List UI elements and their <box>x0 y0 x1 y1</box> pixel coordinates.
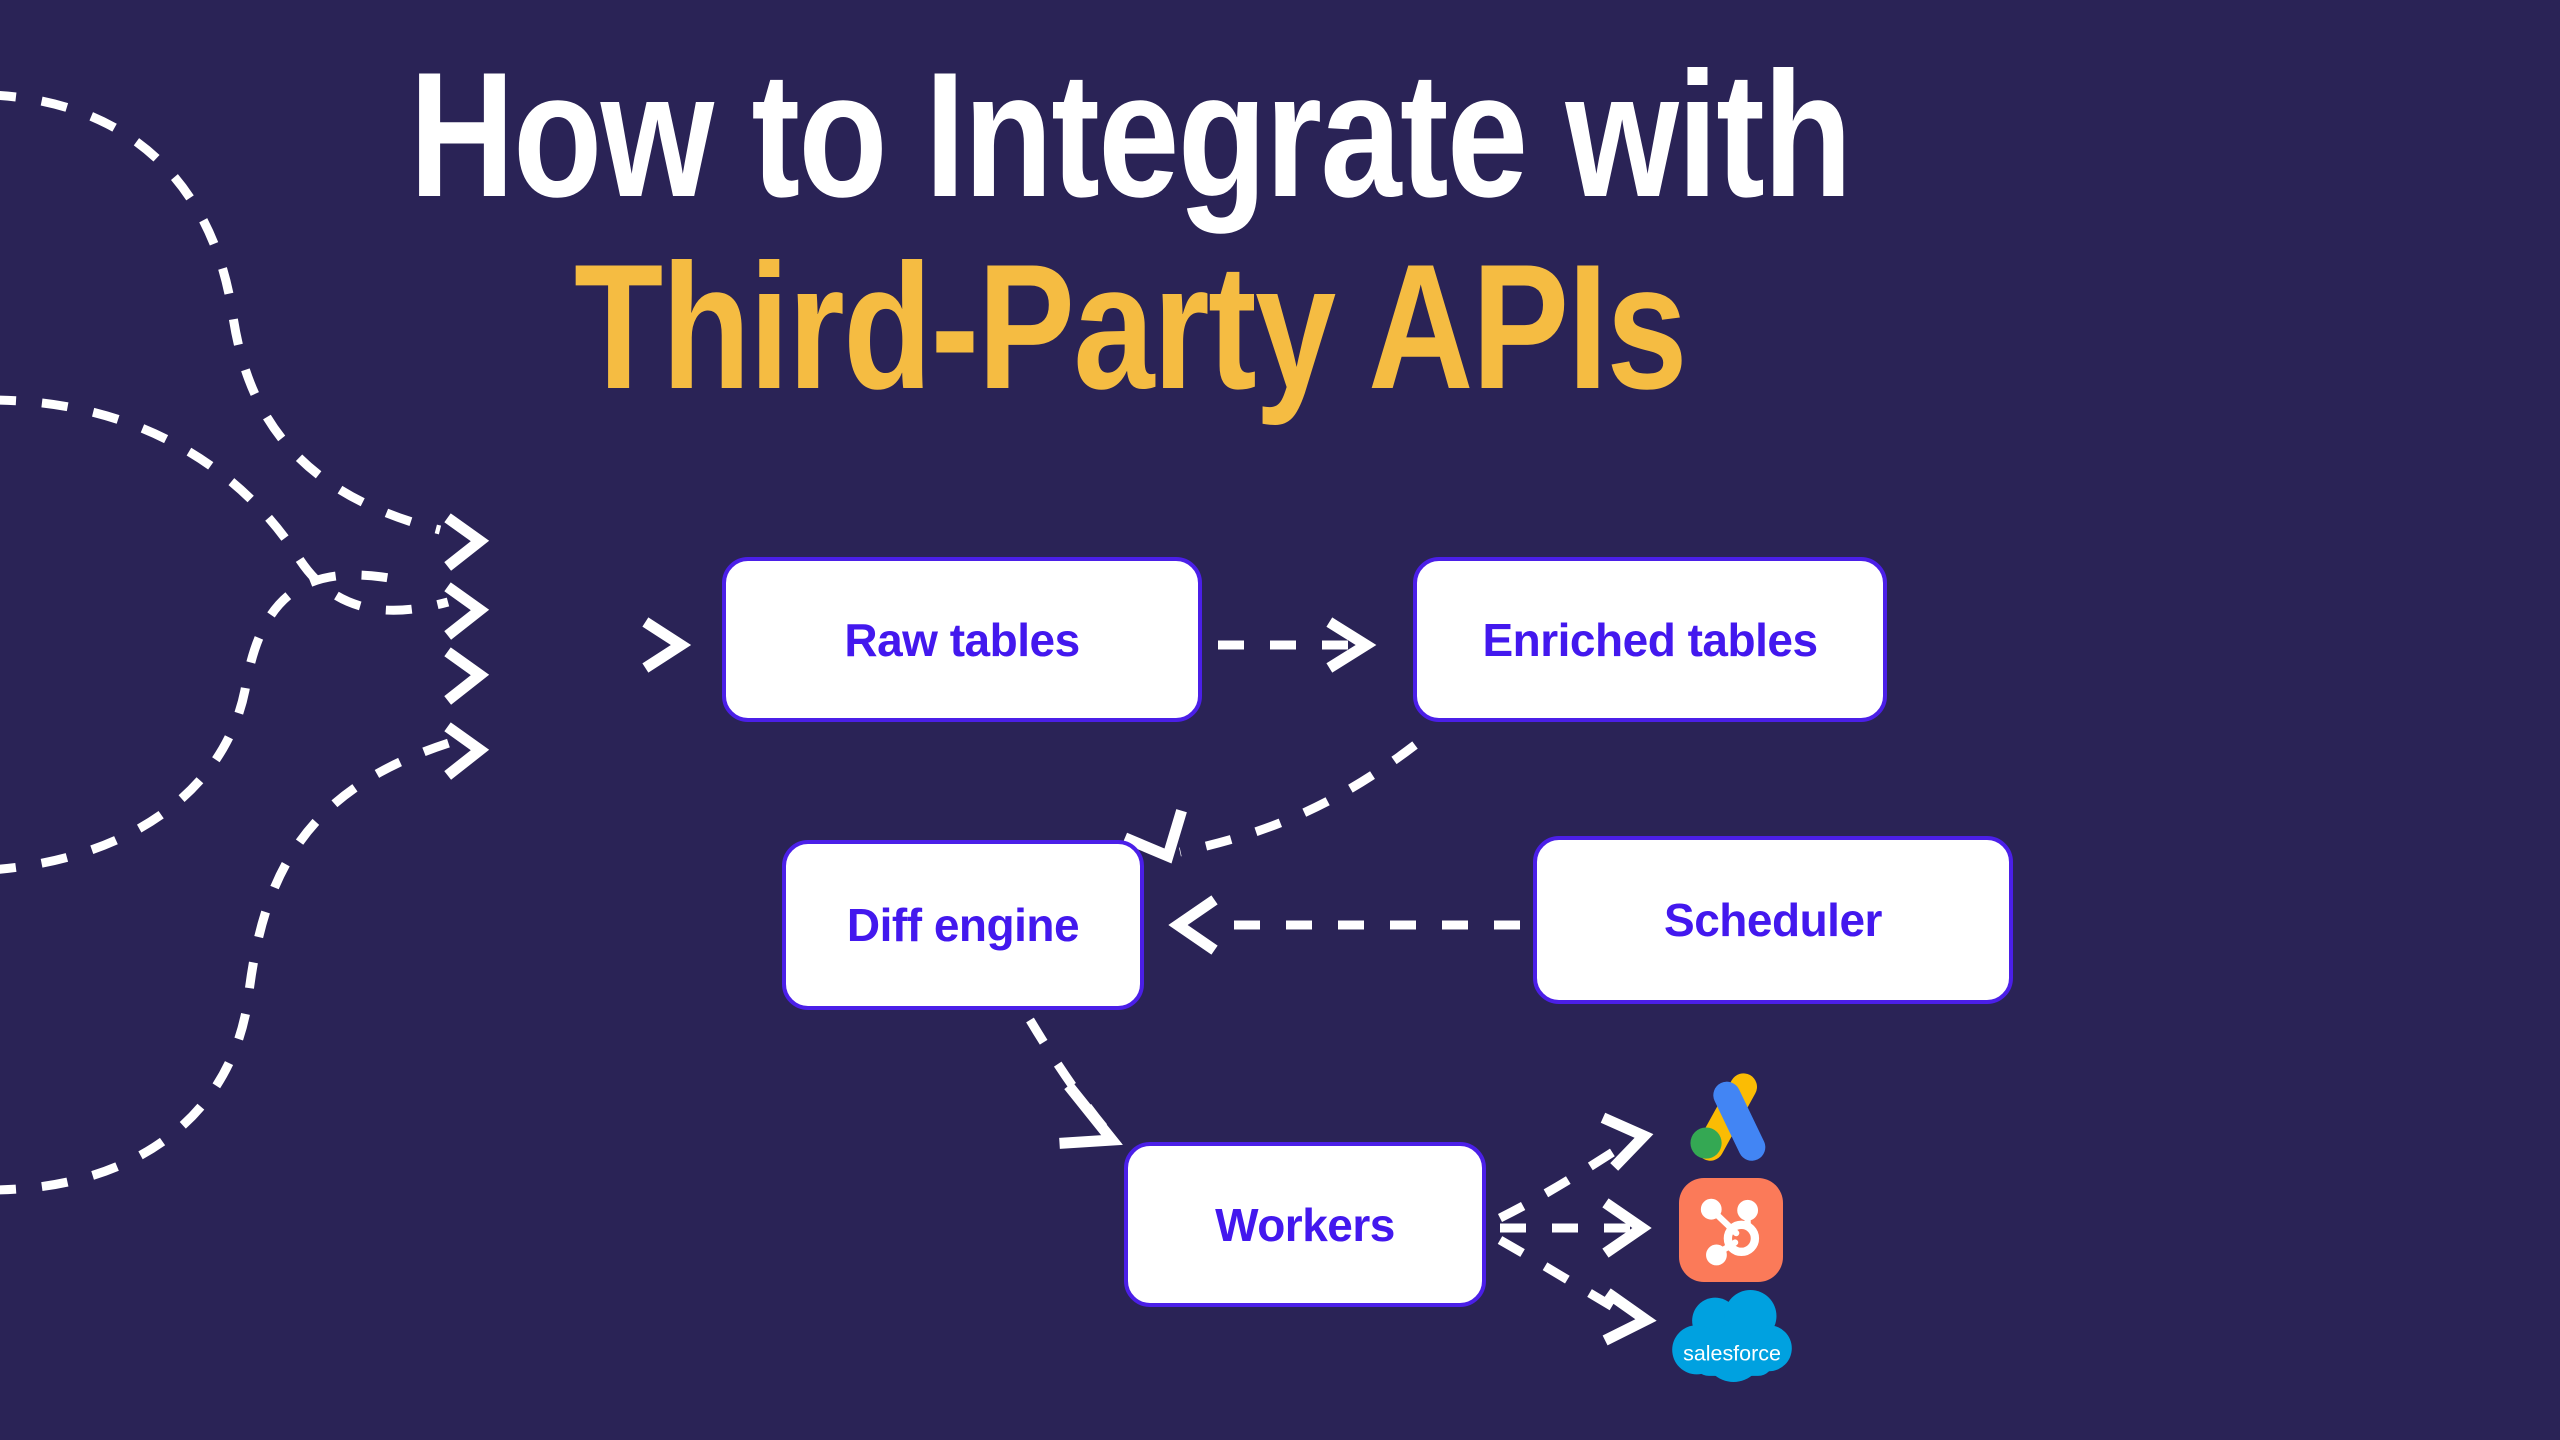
flow-node-label: Enriched tables <box>1482 613 1817 667</box>
flow-node-raw-tables[interactable]: Raw tables <box>722 557 1202 722</box>
salesforce-icon[interactable]: salesforce <box>1670 1290 1794 1382</box>
source-curve-4 <box>0 742 452 1190</box>
flow-node-scheduler[interactable]: Scheduler <box>1533 836 2013 1004</box>
wire-diff-to-workers <box>1030 1020 1110 1135</box>
arrowhead-into-workers <box>1065 1090 1112 1143</box>
flow-node-label: Diff engine <box>847 898 1079 952</box>
title-line-accent: Third-Party APIs <box>203 240 2056 414</box>
flow-node-label: Raw tables <box>844 613 1079 667</box>
arrowhead-source-1 <box>452 521 480 563</box>
flow-node-diff-engine[interactable]: Diff engine <box>782 840 1144 1010</box>
slide-canvas: How to Integrate with Third-Party APIs <box>0 0 2560 1440</box>
wire-workers-to-salesforce <box>1500 1240 1632 1318</box>
arrowhead-into-diff-side <box>1178 903 1210 947</box>
arrowhead-into-enriched <box>1334 625 1366 665</box>
flow-node-label: Scheduler <box>1664 893 1882 947</box>
arrowhead-into-hubspot <box>1610 1206 1642 1250</box>
google-ads-icon[interactable] <box>1679 1064 1783 1168</box>
title-line-primary: How to Integrate with <box>203 48 2056 222</box>
salesforce-wordmark: salesforce <box>1683 1342 1781 1366</box>
arrowhead-source-2 <box>452 590 480 632</box>
source-curve-2 <box>0 400 448 610</box>
page-title: How to Integrate with Third-Party APIs <box>0 48 2260 415</box>
wire-enriched-to-diff <box>1180 745 1415 852</box>
source-curve-3 <box>0 575 400 870</box>
arrowhead-into-googleads <box>1608 1120 1644 1163</box>
flow-node-label: Workers <box>1215 1198 1395 1252</box>
hubspot-icon[interactable] <box>1679 1178 1783 1282</box>
arrowhead-into-salesforce <box>1610 1296 1646 1338</box>
wire-workers-to-googleads <box>1500 1140 1632 1218</box>
flow-node-workers[interactable]: Workers <box>1124 1142 1486 1307</box>
arrowhead-into-raw <box>650 625 681 665</box>
arrowhead-source-4 <box>452 730 480 772</box>
flow-node-enriched-tables[interactable]: Enriched tables <box>1413 557 1887 722</box>
arrowhead-source-3 <box>452 655 480 697</box>
